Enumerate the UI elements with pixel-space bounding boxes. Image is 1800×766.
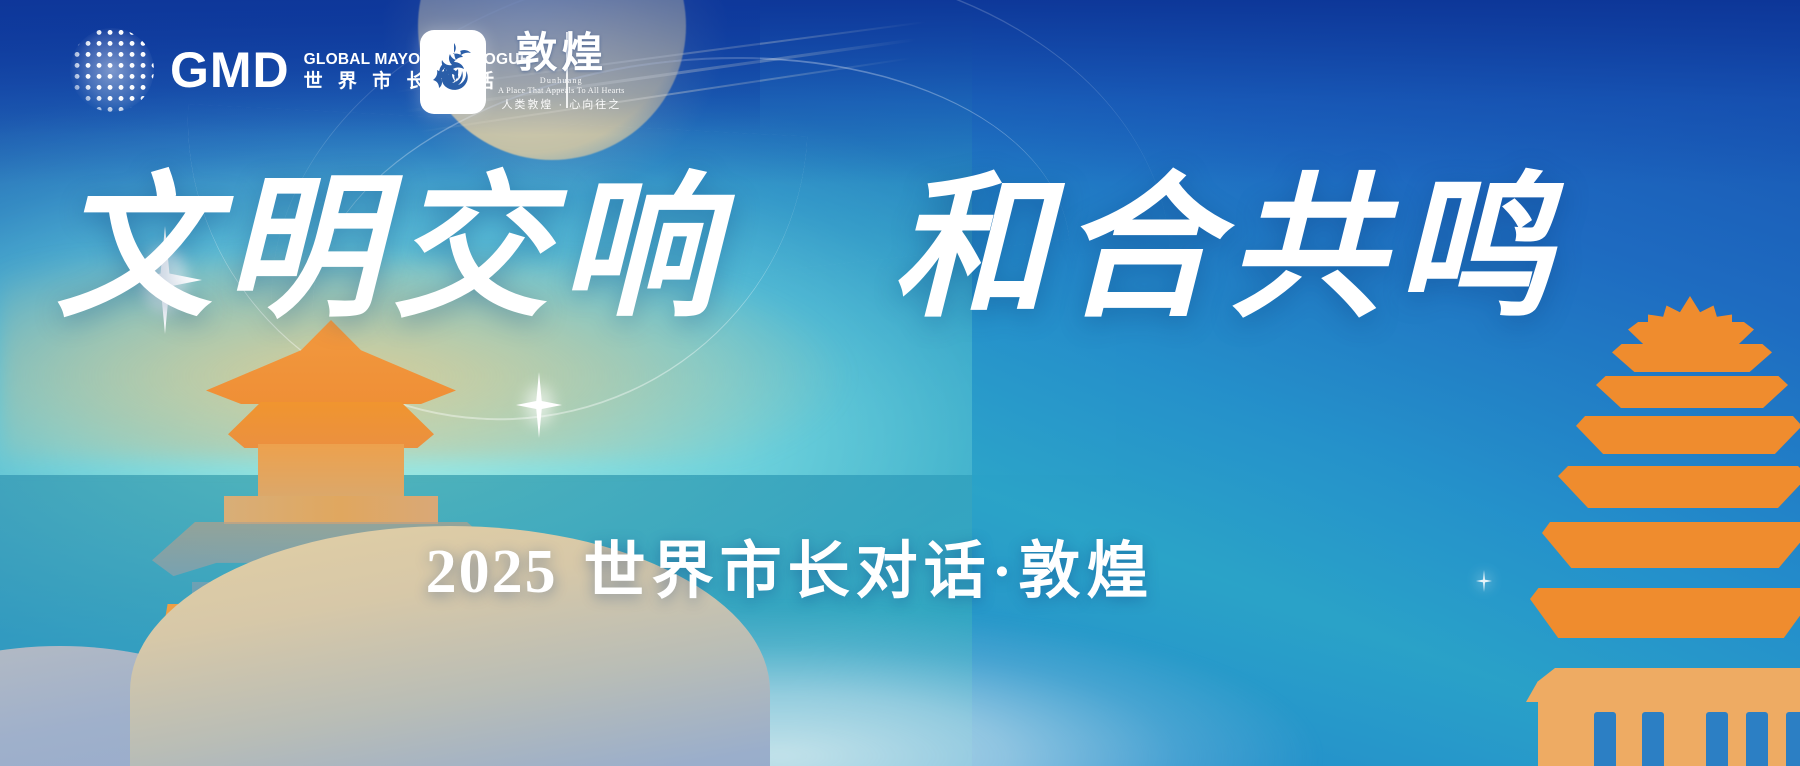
- pagoda-tier: [1542, 522, 1800, 568]
- pagoda-tier: [1558, 466, 1800, 508]
- pagoda-column: [1706, 712, 1728, 766]
- dunhuang-english-tagline: A Place That Appeals To All Hearts: [498, 87, 625, 95]
- subtitle-year: 2025: [426, 538, 558, 606]
- pagoda-base-roof: [1526, 668, 1800, 702]
- pagoda-tier: [1576, 416, 1800, 454]
- pagoda-crown: [1648, 296, 1732, 324]
- banner-subtitle: 2025世界市长对话·敦煌: [0, 538, 1580, 606]
- pagoda-base: [1538, 700, 1800, 766]
- pagoda-silhouette: [1520, 296, 1800, 766]
- dunhuang-chinese-slogan: 人类敦煌 · 心向往之: [501, 100, 621, 111]
- title-phrase-two: 和合共鸣: [892, 163, 1564, 336]
- dunhuang-lockup: 敦煌 Dunhuang A Place That Appeals To All …: [498, 33, 625, 111]
- pagoda-column: [1786, 712, 1800, 766]
- temple-roof-second: [228, 402, 434, 448]
- title-phrase-one: 文明交响: [56, 163, 728, 336]
- halftone-globe-icon: [70, 28, 154, 112]
- temple-upper-body: [258, 444, 404, 498]
- pagoda-tier: [1612, 344, 1772, 372]
- dunhuang-logo[interactable]: 敦煌 Dunhuang A Place That Appeals To All …: [420, 30, 625, 114]
- dunhuang-chinese-name: 敦煌: [515, 33, 607, 75]
- pagoda-column: [1746, 712, 1768, 766]
- event-banner: GMD GLOBAL MAYORS DIALOGUE 世 界 市 长 对 话 敦…: [0, 0, 1800, 766]
- temple-sill: [224, 496, 438, 524]
- pagoda-tier: [1596, 376, 1788, 408]
- banner-main-title: 文明交响 和合共鸣: [0, 172, 1620, 328]
- pagoda-column: [1642, 712, 1664, 766]
- pagoda-tier: [1628, 322, 1754, 344]
- dunhuang-flying-apsaras-icon: [420, 30, 486, 114]
- dunhuang-pinyin: Dunhuang: [540, 77, 583, 85]
- gmd-abbreviation: GMD: [170, 45, 290, 95]
- pagoda-column: [1594, 712, 1616, 766]
- subtitle-event-name: 世界市长对话·敦煌: [584, 538, 1155, 606]
